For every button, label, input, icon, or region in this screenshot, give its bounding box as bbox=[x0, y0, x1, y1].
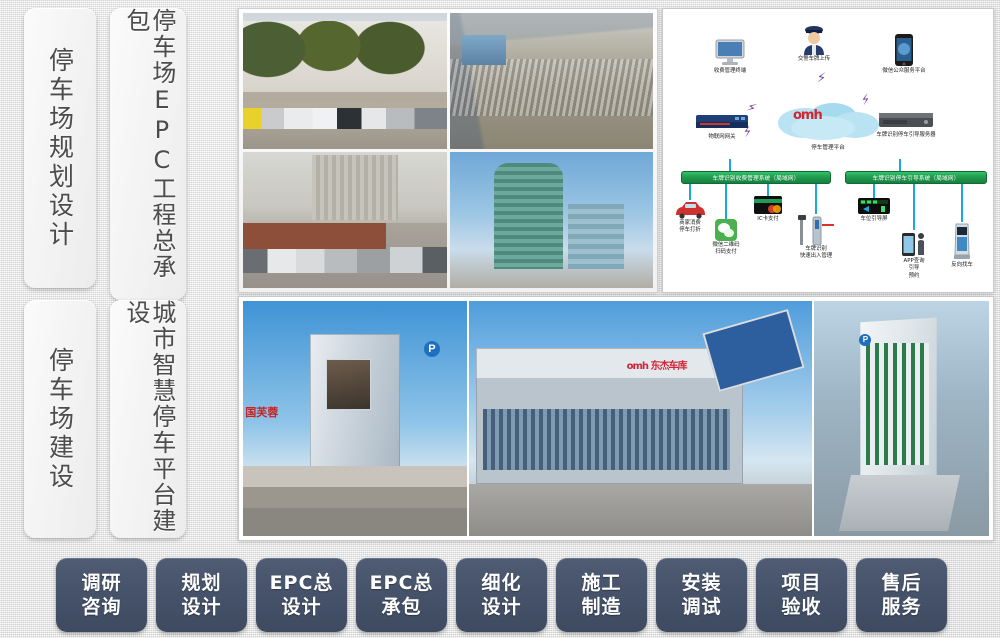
facade-louvers bbox=[483, 409, 730, 470]
step-installation[interactable]: 安装 调试 bbox=[656, 558, 747, 632]
node-label: 车牌识别停车引导服务器 bbox=[863, 132, 949, 139]
step-epc-design[interactable]: EPC总 设计 bbox=[256, 558, 347, 632]
red-car-icon bbox=[673, 199, 707, 219]
node-label: 微信二维码 扫码支付 bbox=[683, 242, 769, 257]
smartphone-icon bbox=[894, 33, 914, 67]
step-line1: 调研 bbox=[81, 571, 121, 595]
tag-label: 城市智慧停车平台建设 bbox=[122, 300, 174, 538]
network-gateway-icon bbox=[695, 113, 749, 133]
connector-line bbox=[873, 184, 875, 198]
tag-card-smart-parking-platform[interactable]: 城市智慧停车平台建设 bbox=[110, 300, 186, 538]
step-line2: 制造 bbox=[581, 595, 621, 619]
diagram-canvas: omh 停车管理平台 ⚡ ⚡ ⚡ ⚡ 收费管理终端 bbox=[667, 13, 989, 288]
plaza-ground bbox=[839, 475, 960, 531]
green-facade-strips bbox=[866, 343, 929, 465]
lightning-bolt-icon: ⚡ bbox=[817, 71, 826, 84]
step-epc-contract[interactable]: EPC总 承包 bbox=[356, 558, 447, 632]
node-wechat-public-platform[interactable]: 微信公众服务平台 bbox=[861, 33, 947, 75]
rack-server-icon bbox=[878, 111, 934, 131]
node-label: 物联网网关 bbox=[679, 134, 765, 141]
step-line2: 咨询 bbox=[81, 595, 121, 619]
node-wechat-qr-pay[interactable]: 微信二维码 扫码支付 bbox=[683, 219, 769, 257]
parking-site-photos-panel bbox=[238, 8, 658, 293]
node-reverse-car-finding[interactable]: 反向找车 bbox=[919, 221, 1000, 269]
system-architecture-diagram-panel: omh 停车管理平台 ⚡ ⚡ ⚡ ⚡ 收费管理终端 bbox=[662, 8, 994, 293]
connector-line bbox=[729, 159, 731, 171]
photo-street-parking bbox=[243, 13, 447, 149]
process-steps-bar: 调研 咨询 规划 设计 EPC总 设计 EPC总 承包 细化 设计 施工 制造 … bbox=[56, 552, 1000, 638]
barrier-gate-icon bbox=[796, 211, 836, 245]
render-garage-facade: omh 东杰车库 bbox=[469, 301, 812, 536]
step-line1: EPC总 bbox=[370, 571, 434, 595]
node-traffic-police-upload[interactable]: 交警车牌上传 bbox=[771, 25, 857, 63]
photo-lot-brick-building bbox=[243, 152, 447, 288]
node-label: 车位引导屏 bbox=[831, 216, 917, 223]
step-line2: 服务 bbox=[881, 595, 921, 619]
render-aerial-tower: P bbox=[814, 301, 989, 536]
step-after-sales[interactable]: 售后 服务 bbox=[856, 558, 947, 632]
step-line1: 规划 bbox=[181, 571, 221, 595]
rooftop-car-display bbox=[702, 309, 805, 392]
desktop-monitor-icon bbox=[713, 39, 747, 67]
bar-anpr-toll-system[interactable]: 车牌识别收费管理系统（局域网） bbox=[681, 171, 831, 184]
render-tower-billboard: P 国芙蓉 bbox=[243, 301, 467, 536]
omh-logo: omh bbox=[793, 108, 822, 123]
tag-card-parking-epc-contract[interactable]: 停车场EPC工程总承包 bbox=[110, 8, 186, 300]
node-label: 交警车牌上传 bbox=[771, 56, 857, 63]
tag-card-parking-construction[interactable]: 停车场建设 bbox=[24, 300, 96, 538]
connector-line bbox=[899, 159, 901, 171]
omh-logo: omh 东杰车库 bbox=[627, 357, 687, 372]
step-line2: 验收 bbox=[781, 595, 821, 619]
tag-card-parking-planning-design[interactable]: 停车场规划设计 bbox=[24, 8, 96, 288]
sign-left-text: 国芙蓉 bbox=[245, 404, 278, 420]
led-sign-icon bbox=[857, 197, 891, 215]
kiosk-icon bbox=[952, 221, 972, 261]
connector-line bbox=[689, 184, 691, 200]
tag-label: 停车场建设 bbox=[47, 347, 74, 492]
left-tag-column: 停车场规划设计 停车场EPC工程总承包 停车场建设 城市智慧停车平台建设 bbox=[0, 0, 232, 545]
photo-aerial-parking bbox=[450, 13, 654, 149]
parking-badge: P bbox=[424, 341, 440, 357]
tag-label: 停车场EPC工程总承包 bbox=[122, 8, 174, 300]
step-line1: 售后 bbox=[881, 571, 921, 595]
bar-anpr-guidance-system[interactable]: 车牌识别停车引导系统（局域网） bbox=[845, 171, 987, 184]
node-toll-management-terminal[interactable]: 收费管理终端 bbox=[687, 39, 773, 75]
road bbox=[469, 484, 812, 536]
step-line1: 项目 bbox=[781, 571, 821, 595]
street-level bbox=[243, 466, 467, 537]
connector-line bbox=[961, 184, 963, 222]
step-research[interactable]: 调研 咨询 bbox=[56, 558, 147, 632]
connector-line bbox=[815, 184, 817, 214]
police-officer-icon bbox=[801, 25, 827, 55]
step-line2: 承包 bbox=[381, 595, 421, 619]
step-line2: 设计 bbox=[281, 595, 321, 619]
node-label: 车牌识别 快速出入管理 bbox=[773, 246, 859, 261]
photo-grid bbox=[243, 13, 653, 288]
step-line1: 细化 bbox=[481, 571, 521, 595]
node-label: 微信公众服务平台 bbox=[861, 68, 947, 75]
step-line1: 施工 bbox=[581, 571, 621, 595]
cloud-platform-label: 停车管理平台 bbox=[785, 143, 871, 151]
step-line2: 调试 bbox=[681, 595, 721, 619]
step-detail-design[interactable]: 细化 设计 bbox=[456, 558, 547, 632]
node-anpr-guidance-server[interactable]: 车牌识别停车引导服务器 bbox=[863, 111, 949, 139]
parking-garage-renderings-panel: P 国芙蓉 omh 东杰车库 P bbox=[238, 296, 994, 541]
step-line1: EPC总 bbox=[270, 571, 334, 595]
step-line2: 设计 bbox=[481, 595, 521, 619]
step-line2: 设计 bbox=[181, 595, 221, 619]
step-planning[interactable]: 规划 设计 bbox=[156, 558, 247, 632]
node-bay-guidance-screen[interactable]: 车位引导屏 bbox=[831, 197, 917, 223]
photo-glass-highrise bbox=[450, 152, 654, 288]
tag-label: 停车场规划设计 bbox=[47, 47, 74, 250]
node-label: 收费管理终端 bbox=[687, 68, 773, 75]
step-manufacture[interactable]: 施工 制造 bbox=[556, 558, 647, 632]
step-line1: 安装 bbox=[681, 571, 721, 595]
step-acceptance[interactable]: 项目 验收 bbox=[756, 558, 847, 632]
node-iot-gateway[interactable]: 物联网网关 bbox=[679, 113, 765, 141]
node-label: 反向找车 bbox=[919, 262, 1000, 269]
